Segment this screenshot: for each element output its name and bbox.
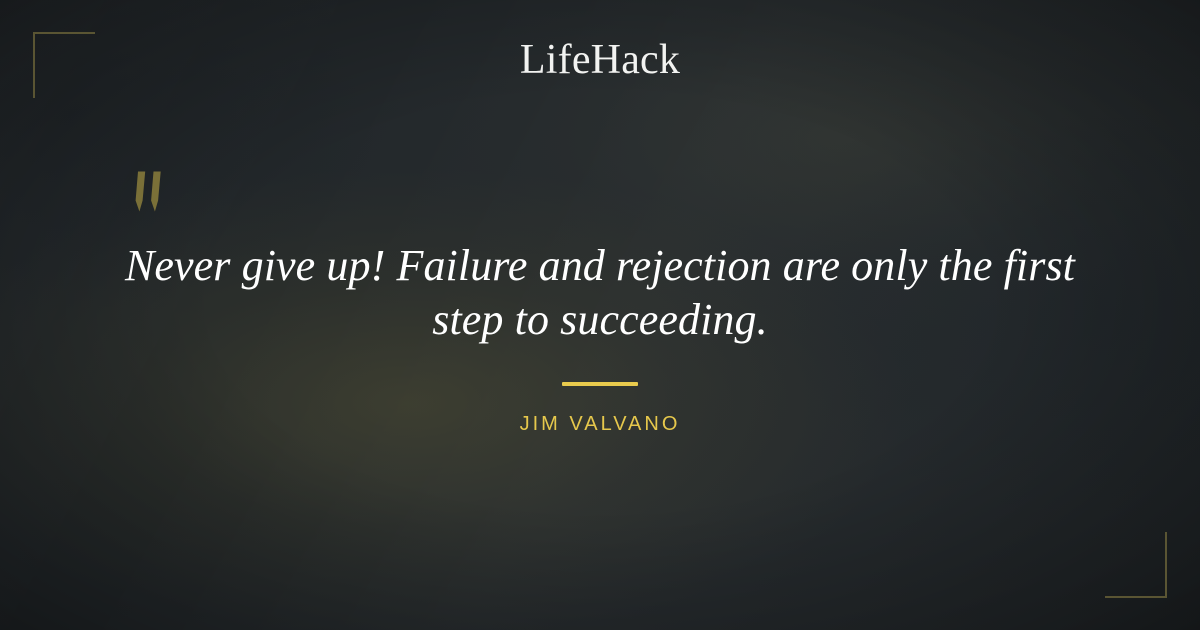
quote-card: LifeHack Never give up! Failure and reje… — [0, 0, 1200, 630]
brand-logo: LifeHack — [0, 38, 1200, 82]
quotation-mark-icon — [132, 170, 172, 216]
quote-text: Never give up! Failure and rejection are… — [100, 239, 1100, 347]
accent-divider — [562, 382, 638, 386]
quote-author: JIM VALVANO — [0, 413, 1200, 436]
quote-line-2: to succeeding. — [515, 295, 768, 344]
card-content: LifeHack Never give up! Failure and reje… — [0, 0, 1200, 630]
